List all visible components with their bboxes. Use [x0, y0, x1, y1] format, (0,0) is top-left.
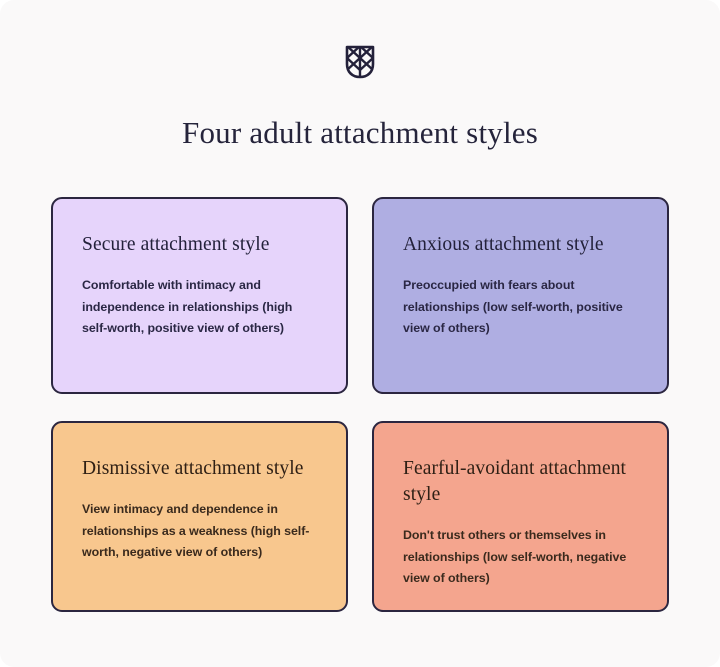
- card-anxious-attachment: Anxious attachment style Preoccupied wit…: [372, 197, 669, 394]
- logo-container: [0, 44, 720, 79]
- card-title-secure: Secure attachment style: [82, 232, 320, 258]
- card-body-dismissive: View intimacy and dependence in relation…: [82, 499, 320, 564]
- infographic-page: Four adult attachment styles Secure atta…: [0, 0, 720, 667]
- card-body-anxious: Preoccupied with fears about relationshi…: [403, 275, 641, 340]
- card-fearful-avoidant-attachment: Fearful-avoidant attachment style Don't …: [372, 421, 669, 612]
- card-body-fearful-avoidant: Don't trust others or themselves in rela…: [403, 525, 641, 590]
- card-dismissive-attachment: Dismissive attachment style View intimac…: [51, 421, 348, 612]
- page-title: Four adult attachment styles: [0, 114, 720, 152]
- card-secure-attachment: Secure attachment style Comfortable with…: [51, 197, 348, 394]
- card-body-secure: Comfortable with intimacy and independen…: [82, 275, 320, 340]
- shield-crest-logo: [344, 44, 376, 79]
- card-title-anxious: Anxious attachment style: [403, 232, 641, 258]
- card-title-fearful-avoidant: Fearful-avoidant attachment style: [403, 456, 641, 508]
- attachment-styles-grid: Secure attachment style Comfortable with…: [51, 197, 669, 612]
- card-title-dismissive: Dismissive attachment style: [82, 456, 320, 482]
